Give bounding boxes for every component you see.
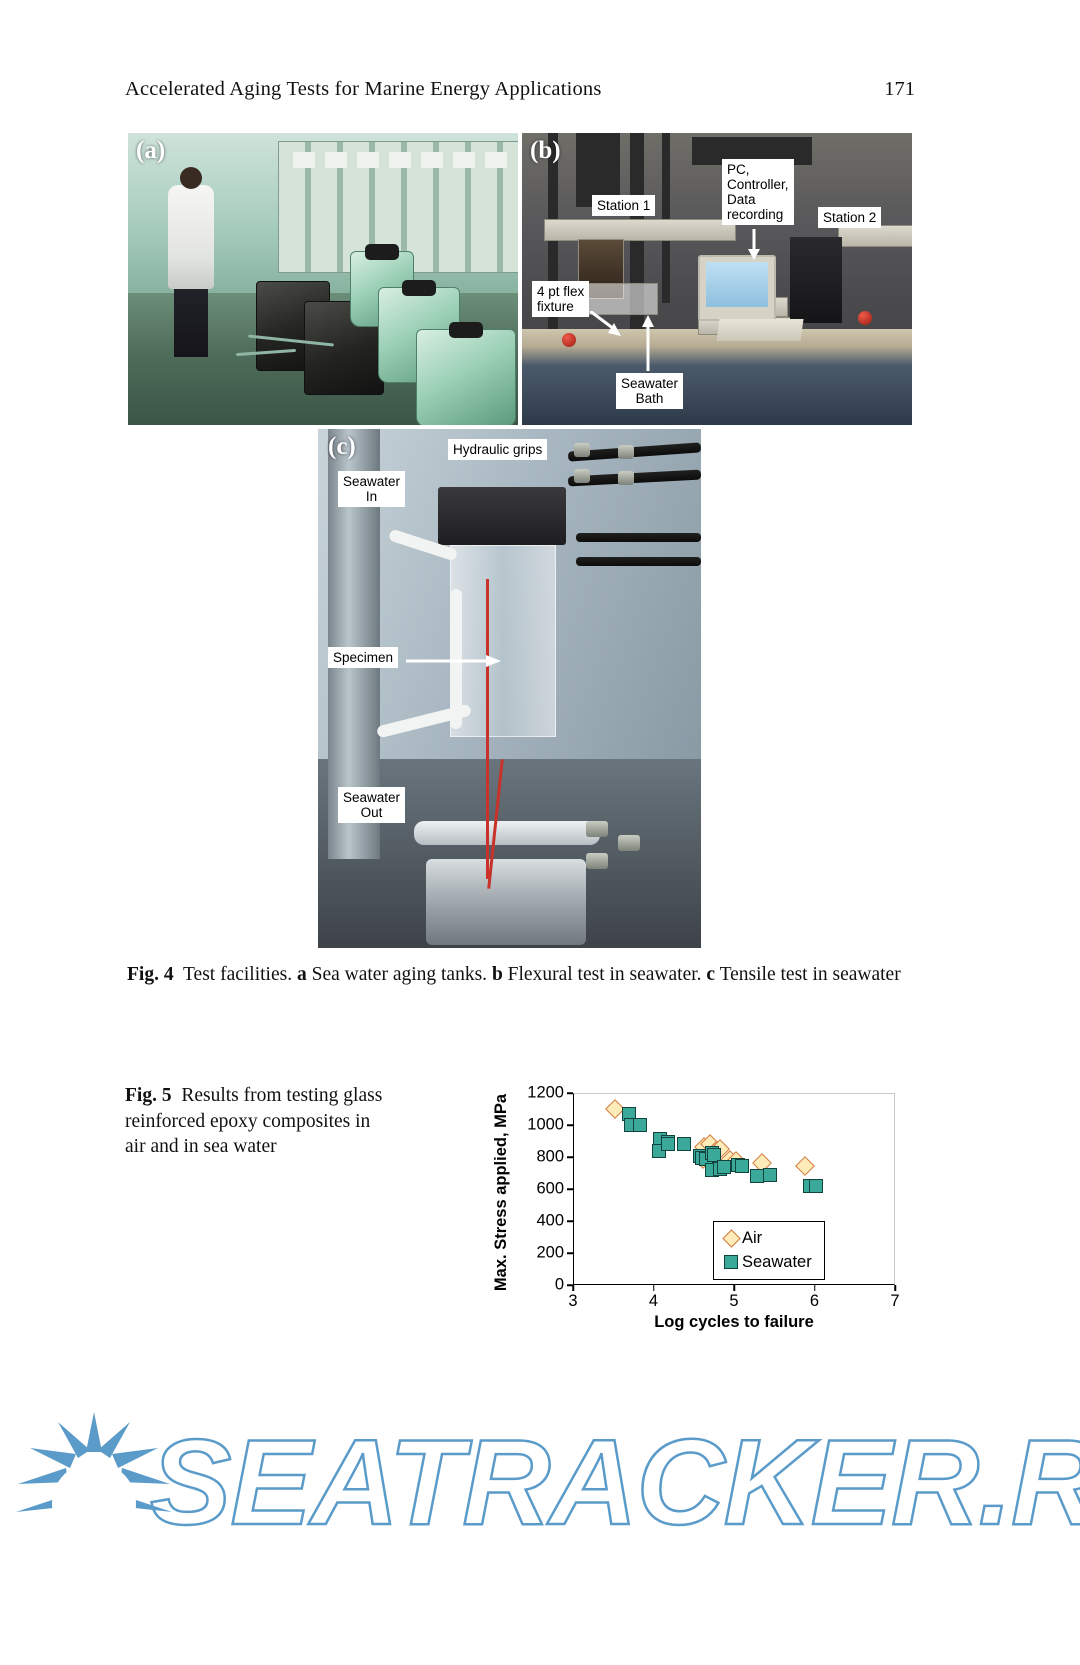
tank-lid [402,280,436,296]
panel-c-hydraulic-line [576,533,701,542]
panel-b-letter: (b) [530,137,561,165]
figure-4-caption-bold-a: a [297,964,307,985]
chart-point-seawater [677,1137,691,1151]
chart-y-tick-mark [567,1188,573,1190]
chart-point-seawater [735,1159,749,1173]
panel-b-monitor-screen [706,262,768,307]
running-head-title: Accelerated Aging Tests for Marine Energ… [125,78,602,101]
panel-c-fitting [586,821,608,837]
chart-y-tick-mark [567,1124,573,1126]
watermark-text: SEATRACKER.RU [150,1412,1080,1552]
callout-hydraulic-grips: Hydraulic grips [448,439,547,460]
legend-row-air: Air [720,1226,818,1250]
panel-b-monitor [698,255,776,321]
figure-4-caption-text-3: Flexural test in seawater. [508,964,702,985]
panel-c-red-wire [486,579,489,879]
callout-seawater-in: Seawater In [338,471,405,507]
figure-4-caption-text-1: Test facilities. [183,964,292,985]
panel-c-fitting [586,853,608,869]
panel-c-fitting [574,443,590,457]
chart-y-axis-label-text: Max. Stress applied, MPa [493,1094,512,1291]
panel-c-fitting [618,471,634,485]
arrow-specimen [406,651,502,671]
panel-a-technician-head [180,167,202,189]
tank-lid [365,244,399,260]
figure-4-panel-a-photo: (a) [128,133,518,425]
figure-4-caption-bold-b: b [492,964,503,985]
panel-a-letter: (a) [136,137,165,165]
panel-b-pc-tower [790,237,842,323]
chart-x-tick-mark [572,1285,574,1291]
chart-x-axis-label: Log cycles to failure [573,1313,895,1332]
callout-station-1: Station 1 [592,195,655,216]
chart-point-seawater [763,1168,777,1182]
chart-point-seawater [717,1160,731,1174]
figure-4-caption-text-4: Tensile test in seawater [720,964,901,985]
chart-point-seawater [750,1169,764,1183]
panel-b-bench [522,329,912,425]
rack-label [485,152,507,168]
figure-4-caption: Fig. 4 Test facilities. a Sea water agin… [127,962,913,988]
callout-specimen: Specimen [328,647,398,668]
chart-y-tick-mark [567,1156,573,1158]
rack-label [453,152,475,168]
panel-c-hydraulic-grip-upper [438,487,566,545]
chart-plot-wrapper: 02004006008001000120034567 Air Seawater [573,1093,895,1285]
figure-5-chart: Max. Stress applied, MPa 020040060080010… [495,1085,915,1340]
panel-c-hydraulic-line [576,557,701,566]
chart-point-seawater [809,1179,823,1193]
panel-a-technician-labcoat [168,185,214,289]
panel-c-lower-plate [414,821,600,845]
chart-point-seawater [661,1137,675,1151]
figure-4-panel-c-photo: Hydraulic grips Seawater In Specimen Sea… [318,429,701,948]
rack-label [293,152,315,168]
legend-square-icon [720,1255,742,1269]
callout-seawater-bath: Seawater Bath [616,373,683,409]
tank-lid [449,322,483,338]
figure-4-caption-text-2: Sea water aging tanks. [312,964,487,985]
chart-x-tick-mark [733,1285,735,1291]
figure-5-caption: Fig. 5 Results from testing glass reinfo… [125,1083,395,1160]
figure-4: (a) Station 1 PC, Controller, Data recor… [128,133,912,948]
panel-c-letter: (c) [328,433,356,461]
chart-y-tick-mark [567,1220,573,1222]
legend-row-seawater: Seawater [720,1250,818,1274]
arrow-4pt-flex-fixture [590,311,624,337]
callout-station-2: Station 2 [818,207,881,228]
panel-a-technician-legs [174,283,208,357]
callout-pc-controller: PC, Controller, Data recording [722,159,794,225]
panel-c-fitting [618,835,640,851]
legend-label-air: Air [742,1229,762,1248]
arrow-seawater-bath [640,315,656,371]
rack-label [325,152,347,168]
panel-b-station-1-panel [544,219,736,241]
page-number: 171 [884,78,915,101]
panel-b-station-2-panel [838,225,912,247]
running-head: Accelerated Aging Tests for Marine Energ… [125,78,915,106]
chart-point-seawater [633,1118,647,1132]
chart-x-tick-mark [814,1285,816,1291]
panel-c-actuator-base [426,859,586,945]
panel-b-emergency-stop [562,333,576,347]
figure-5-caption-label: Fig. 5 [125,1085,172,1106]
chart-y-axis-label: Max. Stress applied, MPa [491,1085,513,1300]
callout-4pt-flex-fixture: 4 pt flex fixture [532,281,589,317]
arrow-pc-controller [746,229,762,261]
panel-b-emergency-stop [858,311,872,325]
chart-x-tick-mark [894,1285,896,1291]
panel-a-aging-tank [416,329,516,425]
rack-label [389,152,411,168]
legend-label-seawater: Seawater [742,1253,812,1272]
panel-c-fitting [618,445,634,459]
callout-seawater-out: Seawater Out [338,787,405,823]
figure-4-panel-b-photo: Station 1 PC, Controller, Data recording… [522,133,912,425]
figure-4-caption-label: Fig. 4 [127,964,174,985]
panel-b-keyboard [716,319,803,341]
chart-x-tick-mark [653,1285,655,1291]
legend-diamond-icon [720,1232,742,1245]
panel-b-frame-post [662,133,670,303]
chart-y-tick-mark [567,1092,573,1094]
rack-label [357,152,379,168]
rack-label [421,152,443,168]
chart-legend: Air Seawater [713,1221,825,1280]
watermark: SEATRACKER.RU [0,1390,1080,1620]
chart-y-tick-mark [567,1252,573,1254]
panel-c-fitting [574,469,590,483]
figure-4-caption-bold-c: c [706,964,715,985]
